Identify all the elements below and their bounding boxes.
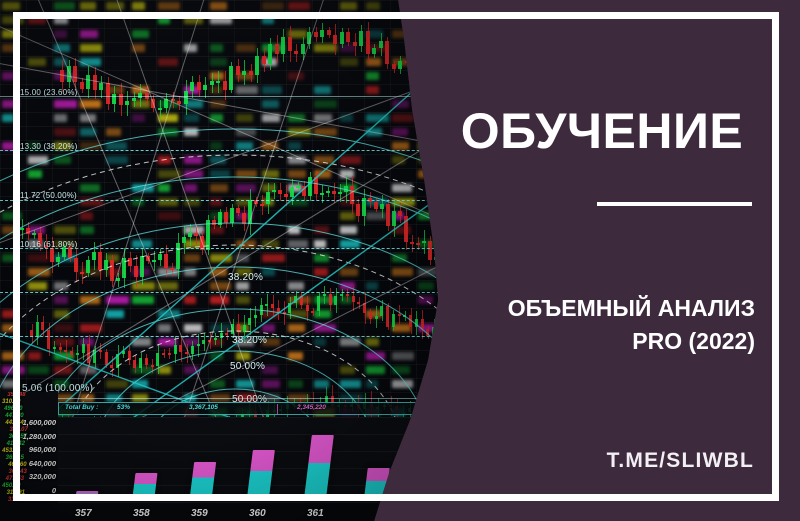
volume-bar-5 <box>364 468 390 497</box>
fib-arc-label-2: 50.00% <box>230 361 265 372</box>
fib-level-label-2: 11.72 (50.00%) <box>20 191 77 200</box>
volume-y-tick-4: 320,000 <box>6 470 56 484</box>
page-title: ОБУЧЕНИЕ <box>448 106 756 156</box>
fib-level-label-1: 13.30 (38.20%) <box>20 142 78 151</box>
volume-x-tick-1: 358 <box>133 508 150 519</box>
volume-bar-chart: 1,600,0001,280,000960,000640,000320,0000 <box>58 417 470 503</box>
fib-level-label-0: 15.00 (23.60%) <box>20 88 78 97</box>
volume-y-tick-1: 1,280,000 <box>6 430 56 444</box>
volume-bar-0 <box>76 491 99 497</box>
volume-y-tick-0: 1,600,000 <box>6 416 56 430</box>
telegram-handle[interactable]: T.ME/SLIWBL <box>450 449 754 473</box>
volume-bar-2 <box>190 462 216 497</box>
fib-arc-label-0: 38.20% <box>228 272 263 283</box>
fib-arc-label-1: 38.20% <box>232 335 267 346</box>
text-panel: ОБУЧЕНИЕ ОБЪЕМНЫЙ АНАЛИЗ PRO (2022) T.ME… <box>440 0 800 521</box>
trading-chart-image: 15.00 (23.60%) 13.30 (38.20%) 11.72 (50.… <box>0 0 470 521</box>
volume-x-tick-4: 361 <box>307 508 324 519</box>
volume-x-tick-0: 357 <box>75 508 92 519</box>
volume-x-tick-2: 359 <box>191 508 208 519</box>
course-subtitle: ОБЪЕМНЫЙ АНАЛИЗ PRO (2022) <box>450 292 755 357</box>
title-divider <box>597 202 752 206</box>
volume-x-tick-3: 360 <box>249 508 266 519</box>
volume-bar-1 <box>133 473 158 497</box>
volume-x-axis: 357358359360361 <box>0 503 470 521</box>
volume-y-axis: 1,600,0001,280,000960,000640,000320,0000 <box>6 416 56 497</box>
volume-y-tick-3: 640,000 <box>6 457 56 471</box>
total-buy-volume: 3,367,105 <box>189 404 218 411</box>
volume-y-tick-5: 0 <box>6 484 56 498</box>
volume-y-tick-2: 960,000 <box>6 443 56 457</box>
total-buy-summary-row: Total Buy : 53% 3,367,105 2,345,220 <box>58 402 468 415</box>
total-buy-percent: 53% <box>117 404 130 411</box>
subtitle-line-2: PRO (2022) <box>450 325 755 358</box>
total-buy-label: Total Buy : <box>65 404 98 411</box>
poster-canvas: 15.00 (23.60%) 13.30 (38.20%) 11.72 (50.… <box>0 0 800 521</box>
subtitle-line-1: ОБЪЕМНЫЙ АНАЛИЗ <box>450 292 755 325</box>
fib-level-label-3: 10.16 (61.80%) <box>20 240 78 249</box>
total-sell-volume: 2,345,220 <box>297 404 326 411</box>
